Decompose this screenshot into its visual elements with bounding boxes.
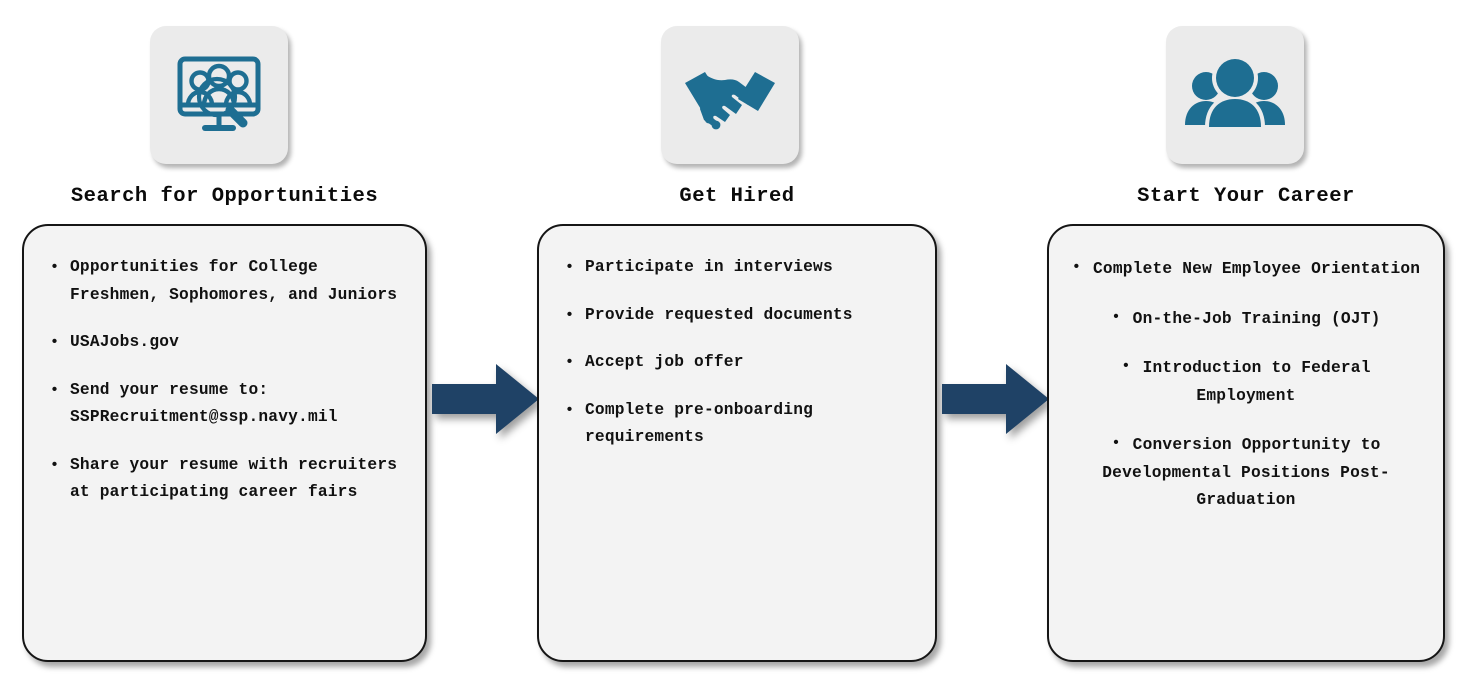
handshake-icon	[678, 43, 782, 147]
list-item: •Conversion Opportunity to Developmental…	[1065, 430, 1427, 515]
bullet-dot: •	[1072, 254, 1081, 282]
step-title: Get Hired	[537, 185, 937, 208]
list-item: Accept job offer	[555, 349, 919, 377]
arrow-search-to-hired	[432, 362, 540, 436]
list-item: •On-the-Job Training (OJT)	[1065, 304, 1427, 334]
list-item-label: Complete New Employee Orientation	[1093, 260, 1420, 278]
people-group-icon	[1183, 43, 1287, 147]
bullet-list: Opportunities for College Freshmen, Soph…	[40, 254, 409, 507]
arrow-hired-to-career	[942, 362, 1050, 436]
handshake-icon-tile	[661, 26, 799, 164]
step-title: Start Your Career	[1047, 185, 1445, 208]
list-item: Complete pre-onboarding requirements	[555, 397, 919, 452]
step-title: Search for Opportunities	[22, 185, 427, 208]
step-content-card: •Complete New Employee Orientation •On-t…	[1047, 224, 1445, 662]
people-group-icon-tile	[1166, 26, 1304, 164]
list-item: USAJobs.gov	[40, 329, 409, 357]
bullet-list: Participate in interviews Provide reques…	[555, 254, 919, 452]
bullet-dot: •	[1111, 430, 1120, 458]
list-item: Provide requested documents	[555, 302, 919, 330]
right-arrow-icon	[432, 362, 540, 436]
list-item: Participate in interviews	[555, 254, 919, 282]
list-item-label: Introduction to Federal Employment	[1143, 359, 1371, 405]
list-item: •Introduction to Federal Employment	[1065, 353, 1427, 410]
step-content-card: Opportunities for College Freshmen, Soph…	[22, 224, 427, 662]
list-item: Opportunities for College Freshmen, Soph…	[40, 254, 409, 309]
monitor-people-search-icon-tile	[150, 26, 288, 164]
right-arrow-icon	[942, 362, 1050, 436]
list-item: Share your resume with recruiters at par…	[40, 452, 409, 507]
monitor-people-search-icon	[167, 43, 271, 147]
step-content-card: Participate in interviews Provide reques…	[537, 224, 937, 662]
process-diagram: Search for Opportunities Opportunities f…	[0, 0, 1473, 675]
list-item: •Complete New Employee Orientation	[1065, 254, 1427, 284]
list-item: Send your resume to: SSPRecruitment@ssp.…	[40, 377, 409, 432]
bullet-list: •Complete New Employee Orientation •On-t…	[1065, 254, 1427, 515]
bullet-dot: •	[1121, 353, 1130, 381]
list-item-label: On-the-Job Training (OJT)	[1133, 310, 1381, 328]
list-item-label: Conversion Opportunity to Developmental …	[1102, 436, 1390, 509]
bullet-dot: •	[1111, 304, 1120, 332]
